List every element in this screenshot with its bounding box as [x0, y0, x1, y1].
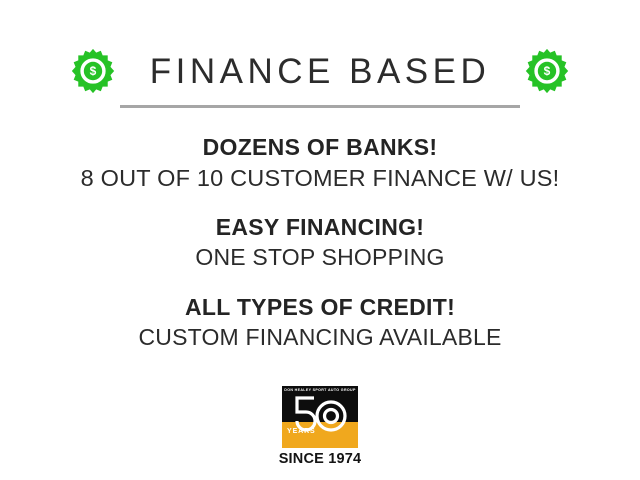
- message-block-banks: DOZENS OF BANKS! 8 OUT OF 10 CUSTOMER FI…: [0, 133, 640, 193]
- badge-brand-line: DON HEALEY SPORT AUTO GROUP: [282, 389, 358, 393]
- message-block-easy-financing: EASY FINANCING! ONE STOP SHOPPING: [0, 213, 640, 273]
- svg-text:$: $: [89, 64, 96, 78]
- headline-all-types-of-credit: ALL TYPES OF CREDIT!: [0, 293, 640, 323]
- svg-text:$: $: [544, 64, 551, 78]
- message-block-all-types-of-credit: ALL TYPES OF CREDIT! CUSTOM FINANCING AV…: [0, 293, 640, 353]
- gear-dollar-icon-left: $: [70, 48, 116, 94]
- page-title: FINANCE BASED: [150, 54, 491, 89]
- header-row: $ FINANCE BASED $: [0, 42, 640, 100]
- finance-based-slide: $ FINANCE BASED $ DOZENS OF BANKS! 8 OUT…: [0, 0, 640, 480]
- anniversary-badge: DON HEALEY SPORT AUTO GROUP YEARS: [282, 386, 358, 448]
- gear-dollar-icon-right: $: [524, 48, 570, 94]
- title-divider: [120, 105, 520, 108]
- slide-header: $ FINANCE BASED $: [0, 42, 640, 122]
- subline-8-out-of-10: 8 OUT OF 10 CUSTOMER FINANCE W/ US!: [0, 163, 640, 194]
- headline-dozens-of-banks: DOZENS OF BANKS!: [0, 133, 640, 163]
- headline-easy-financing: EASY FINANCING!: [0, 213, 640, 243]
- message-blocks: DOZENS OF BANKS! 8 OUT OF 10 CUSTOMER FI…: [0, 133, 640, 353]
- dealer-logo: DON HEALEY SPORT AUTO GROUP YEARS: [0, 386, 640, 467]
- subline-custom-financing-available: CUSTOM FINANCING AVAILABLE: [0, 323, 640, 353]
- badge-years-label: YEARS: [287, 428, 316, 435]
- subline-one-stop-shopping: ONE STOP SHOPPING: [0, 243, 640, 273]
- logo-since-text: SINCE 1974: [279, 452, 362, 467]
